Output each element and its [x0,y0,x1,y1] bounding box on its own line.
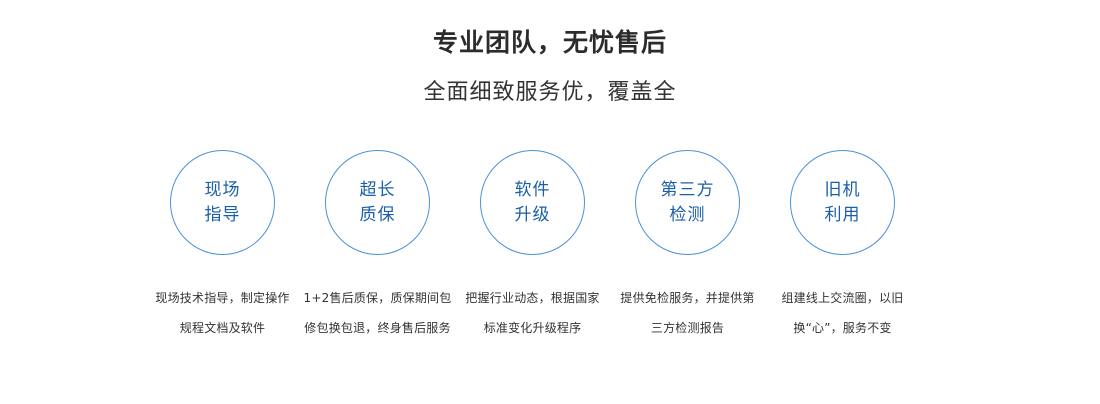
feature-item-third-party-inspection[interactable]: 第三方 检测提供免检服务，并提供第 三方检测报告 [610,150,765,343]
heading-block: 专业团队，无忧售后 全面细致服务优，覆盖全 [0,0,1100,108]
feature-item-old-machine-reuse[interactable]: 旧机 利用组建线上交流圈，以旧 换“心”，服务不变 [765,150,920,343]
page-title: 专业团队，无忧售后 [0,0,1100,59]
feature-circle-label: 第三方 检测 [661,178,715,228]
feature-caption: 组建线上交流圈，以旧 换“心”，服务不变 [765,255,920,343]
page-subtitle: 全面细致服务优，覆盖全 [0,59,1100,108]
feature-circle-old-machine-reuse[interactable]: 旧机 利用 [790,150,895,255]
feature-item-extended-warranty[interactable]: 超长 质保1+2售后质保，质保期间包 修包换包退，终身售后服务 [300,150,455,343]
feature-circle-label: 旧机 利用 [825,178,861,228]
feature-circle-software-upgrade[interactable]: 软件 升级 [480,150,585,255]
service-promise-section: 专业团队，无忧售后 全面细致服务优，覆盖全 现场 指导现场技术指导，制定操作 规… [0,0,1100,404]
feature-circle-label: 超长 质保 [360,178,396,228]
feature-caption: 现场技术指导，制定操作 规程文档及软件 [145,255,300,343]
feature-item-software-upgrade[interactable]: 软件 升级把握行业动态，根据国家 标准变化升级程序 [455,150,610,343]
feature-item-onsite-guidance[interactable]: 现场 指导现场技术指导，制定操作 规程文档及软件 [145,150,300,343]
feature-caption: 1+2售后质保，质保期间包 修包换包退，终身售后服务 [300,255,455,343]
feature-circle-extended-warranty[interactable]: 超长 质保 [325,150,430,255]
feature-caption: 把握行业动态，根据国家 标准变化升级程序 [455,255,610,343]
feature-circle-label: 软件 升级 [515,178,551,228]
feature-circle-label: 现场 指导 [205,178,241,228]
feature-circle-onsite-guidance[interactable]: 现场 指导 [170,150,275,255]
feature-circle-third-party-inspection[interactable]: 第三方 检测 [635,150,740,255]
feature-caption: 提供免检服务，并提供第 三方检测报告 [610,255,765,343]
feature-list: 现场 指导现场技术指导，制定操作 规程文档及软件超长 质保1+2售后质保，质保期… [0,150,1100,350]
